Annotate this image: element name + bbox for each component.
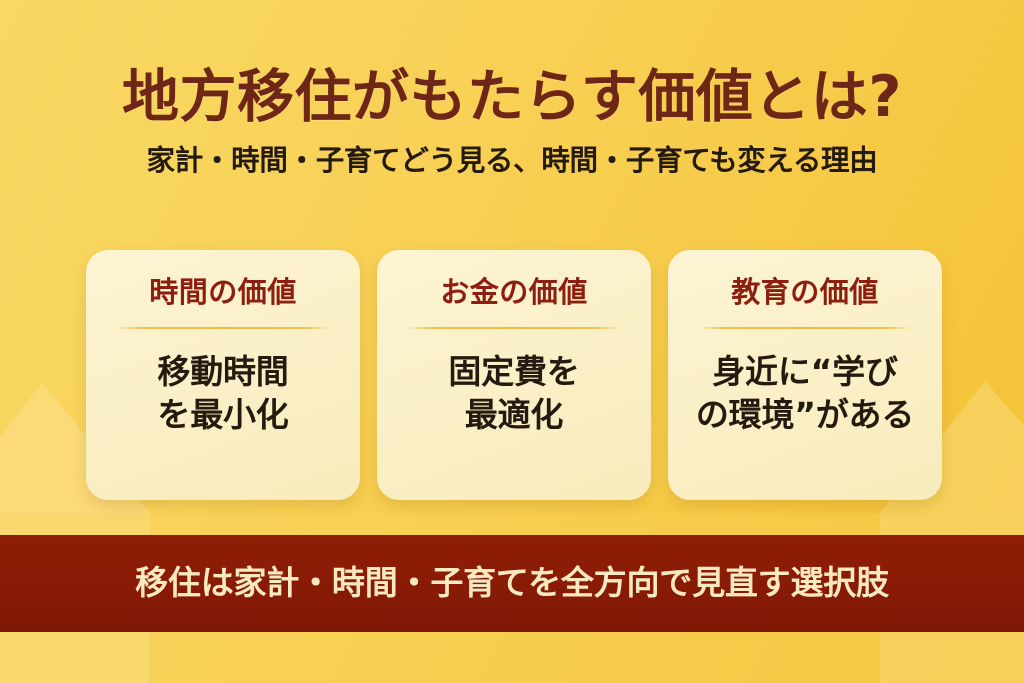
page-subtitle: 家計・時間・子育てどう見る、時間・子育ても変える理由: [0, 130, 1024, 178]
value-card-education: 教育の価値 身近に“学び の環境”がある: [668, 250, 942, 500]
card-body: 移動時間 を最小化: [100, 329, 346, 435]
footer-message: 移住は家計・時間・子育てを全方向で見直す選択肢: [135, 565, 889, 601]
card-body-line-2: の環境”がある: [682, 394, 928, 436]
poster-header: 地方移住がもたらす価値とは? 家計・時間・子育てどう見る、時間・子育ても変える理…: [0, 0, 1024, 178]
card-body-line-2: を最小化: [100, 394, 346, 436]
card-heading: お金の価値: [391, 276, 637, 309]
card-heading: 時間の価値: [100, 276, 346, 309]
card-body: 身近に“学び の環境”がある: [682, 329, 928, 435]
card-body: 固定費を 最適化: [391, 329, 637, 435]
card-body-line-1: 固定費を: [391, 351, 637, 393]
card-heading: 教育の価値: [682, 276, 928, 309]
page-title: 地方移住がもたらす価値とは?: [0, 0, 1024, 130]
value-card-money: お金の価値 固定費を 最適化: [377, 250, 651, 500]
value-card-time: 時間の価値 移動時間 を最小化: [86, 250, 360, 500]
card-body-line-2: 最適化: [391, 394, 637, 436]
card-body-line-1: 身近に“学び: [682, 351, 928, 393]
card-body-line-1: 移動時間: [100, 351, 346, 393]
footer-banner: 移住は家計・時間・子育てを全方向で見直す選択肢: [0, 535, 1024, 632]
poster-canvas: 地方移住がもたらす価値とは? 家計・時間・子育てどう見る、時間・子育ても変える理…: [0, 0, 1024, 683]
value-cards-row: 時間の価値 移動時間 を最小化 お金の価値 固定費を 最適化 教育の価値 身近に…: [86, 250, 942, 500]
